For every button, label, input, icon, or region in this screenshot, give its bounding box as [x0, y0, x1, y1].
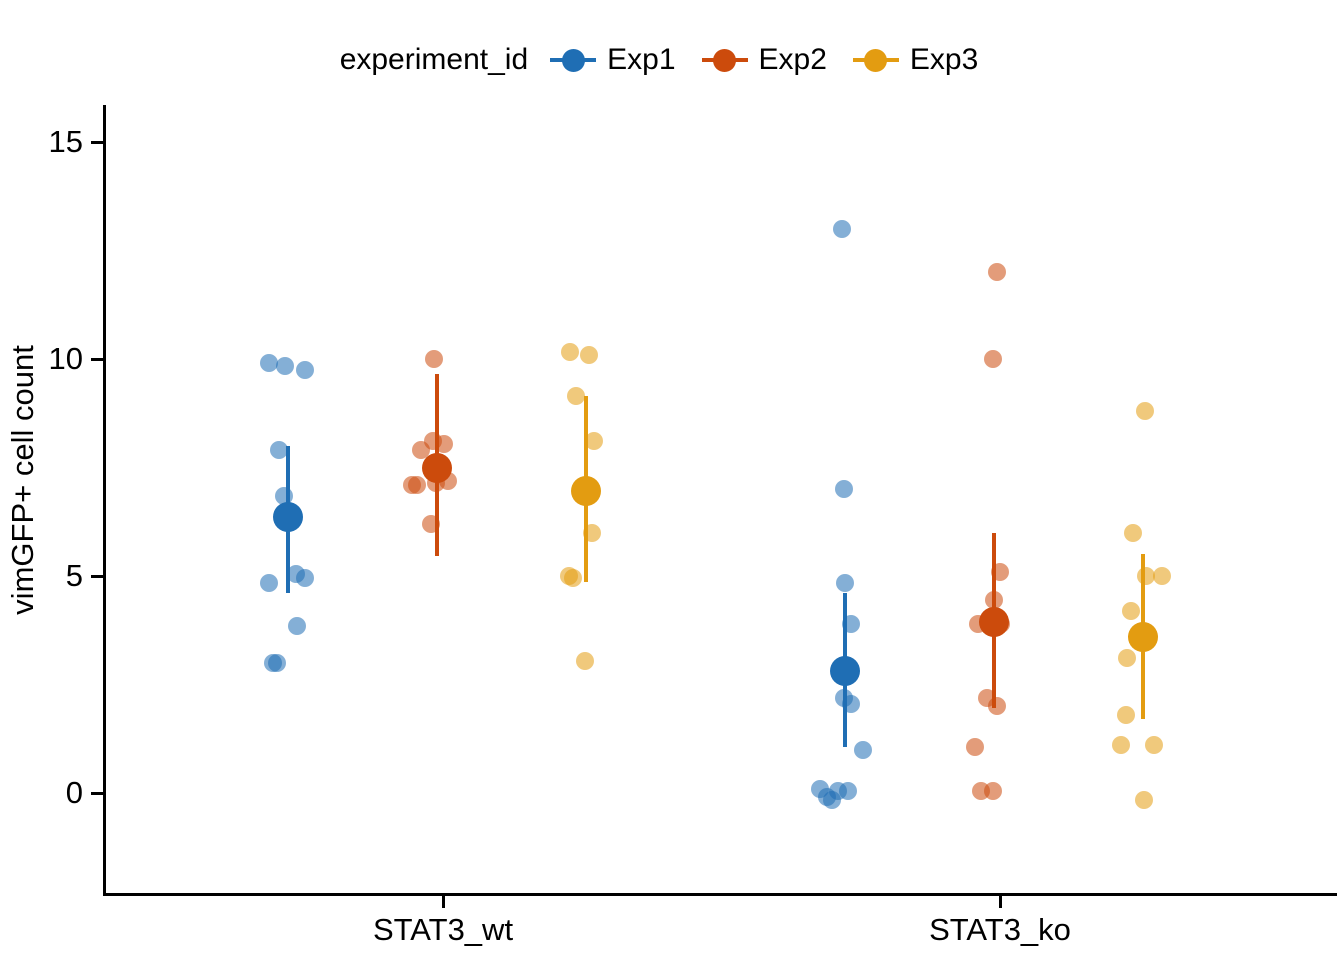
data-point [580, 346, 598, 364]
data-point [835, 480, 853, 498]
data-point [1112, 736, 1130, 754]
legend-key-dot [562, 49, 585, 72]
data-point [1124, 524, 1142, 542]
data-point [984, 350, 1002, 368]
data-point [567, 387, 585, 405]
y-tick-mark [91, 792, 103, 795]
legend-title: experiment_id [340, 43, 528, 77]
data-point [296, 361, 314, 379]
data-point [1135, 791, 1153, 809]
y-tick-label: 15 [13, 126, 83, 157]
legend-label-exp3: Exp3 [910, 43, 978, 77]
y-axis-line [103, 105, 106, 895]
data-point [288, 617, 306, 635]
data-point [268, 654, 286, 672]
mean-point [273, 502, 303, 532]
legend-key-exp2 [702, 45, 748, 75]
y-tick-label: 5 [13, 560, 83, 591]
legend-item-exp1[interactable]: Exp1 [550, 43, 675, 77]
data-point [1145, 736, 1163, 754]
data-point [408, 476, 426, 494]
data-point [260, 574, 278, 592]
data-point [1122, 602, 1140, 620]
data-point [1117, 706, 1135, 724]
data-point [260, 354, 278, 372]
data-point [984, 782, 1002, 800]
y-tick-mark [91, 358, 103, 361]
data-point [296, 569, 314, 587]
mean-point [422, 453, 452, 483]
x-tick-label: STAT3_ko [929, 912, 1071, 948]
data-point [425, 350, 443, 368]
legend-item-exp2[interactable]: Exp2 [702, 43, 827, 77]
data-point [833, 220, 851, 238]
mean-point [979, 607, 1009, 637]
y-tick-mark [91, 575, 103, 578]
legend: experiment_id Exp1 Exp2 Exp3 [0, 30, 1344, 90]
plot-root: experiment_id Exp1 Exp2 Exp3 vimGFP+ cel… [0, 0, 1344, 960]
data-point [988, 697, 1006, 715]
legend-key-exp1 [550, 45, 596, 75]
legend-label-exp1: Exp1 [607, 43, 675, 77]
y-tick-label: 10 [13, 343, 83, 374]
data-point [854, 741, 872, 759]
data-point [839, 782, 857, 800]
data-point [564, 569, 582, 587]
legend-label-exp2: Exp2 [759, 43, 827, 77]
x-tick-label: STAT3_wt [373, 912, 513, 948]
data-point [561, 343, 579, 361]
data-point [276, 357, 294, 375]
x-axis-line [103, 893, 1337, 896]
legend-key-dot [713, 49, 736, 72]
data-point [576, 652, 594, 670]
data-point [1153, 567, 1171, 585]
y-tick-mark [91, 141, 103, 144]
x-tick-mark [442, 896, 445, 908]
y-tick-label: 0 [13, 777, 83, 808]
data-point [966, 738, 984, 756]
legend-key-dot [864, 49, 887, 72]
data-point [836, 574, 854, 592]
mean-point [571, 476, 601, 506]
x-tick-mark [999, 896, 1002, 908]
data-point [1118, 649, 1136, 667]
mean-point [830, 656, 860, 686]
legend-item-exp3[interactable]: Exp3 [853, 43, 978, 77]
legend-key-exp3 [853, 45, 899, 75]
data-point [988, 263, 1006, 281]
mean-point [1128, 622, 1158, 652]
data-point [1136, 402, 1154, 420]
